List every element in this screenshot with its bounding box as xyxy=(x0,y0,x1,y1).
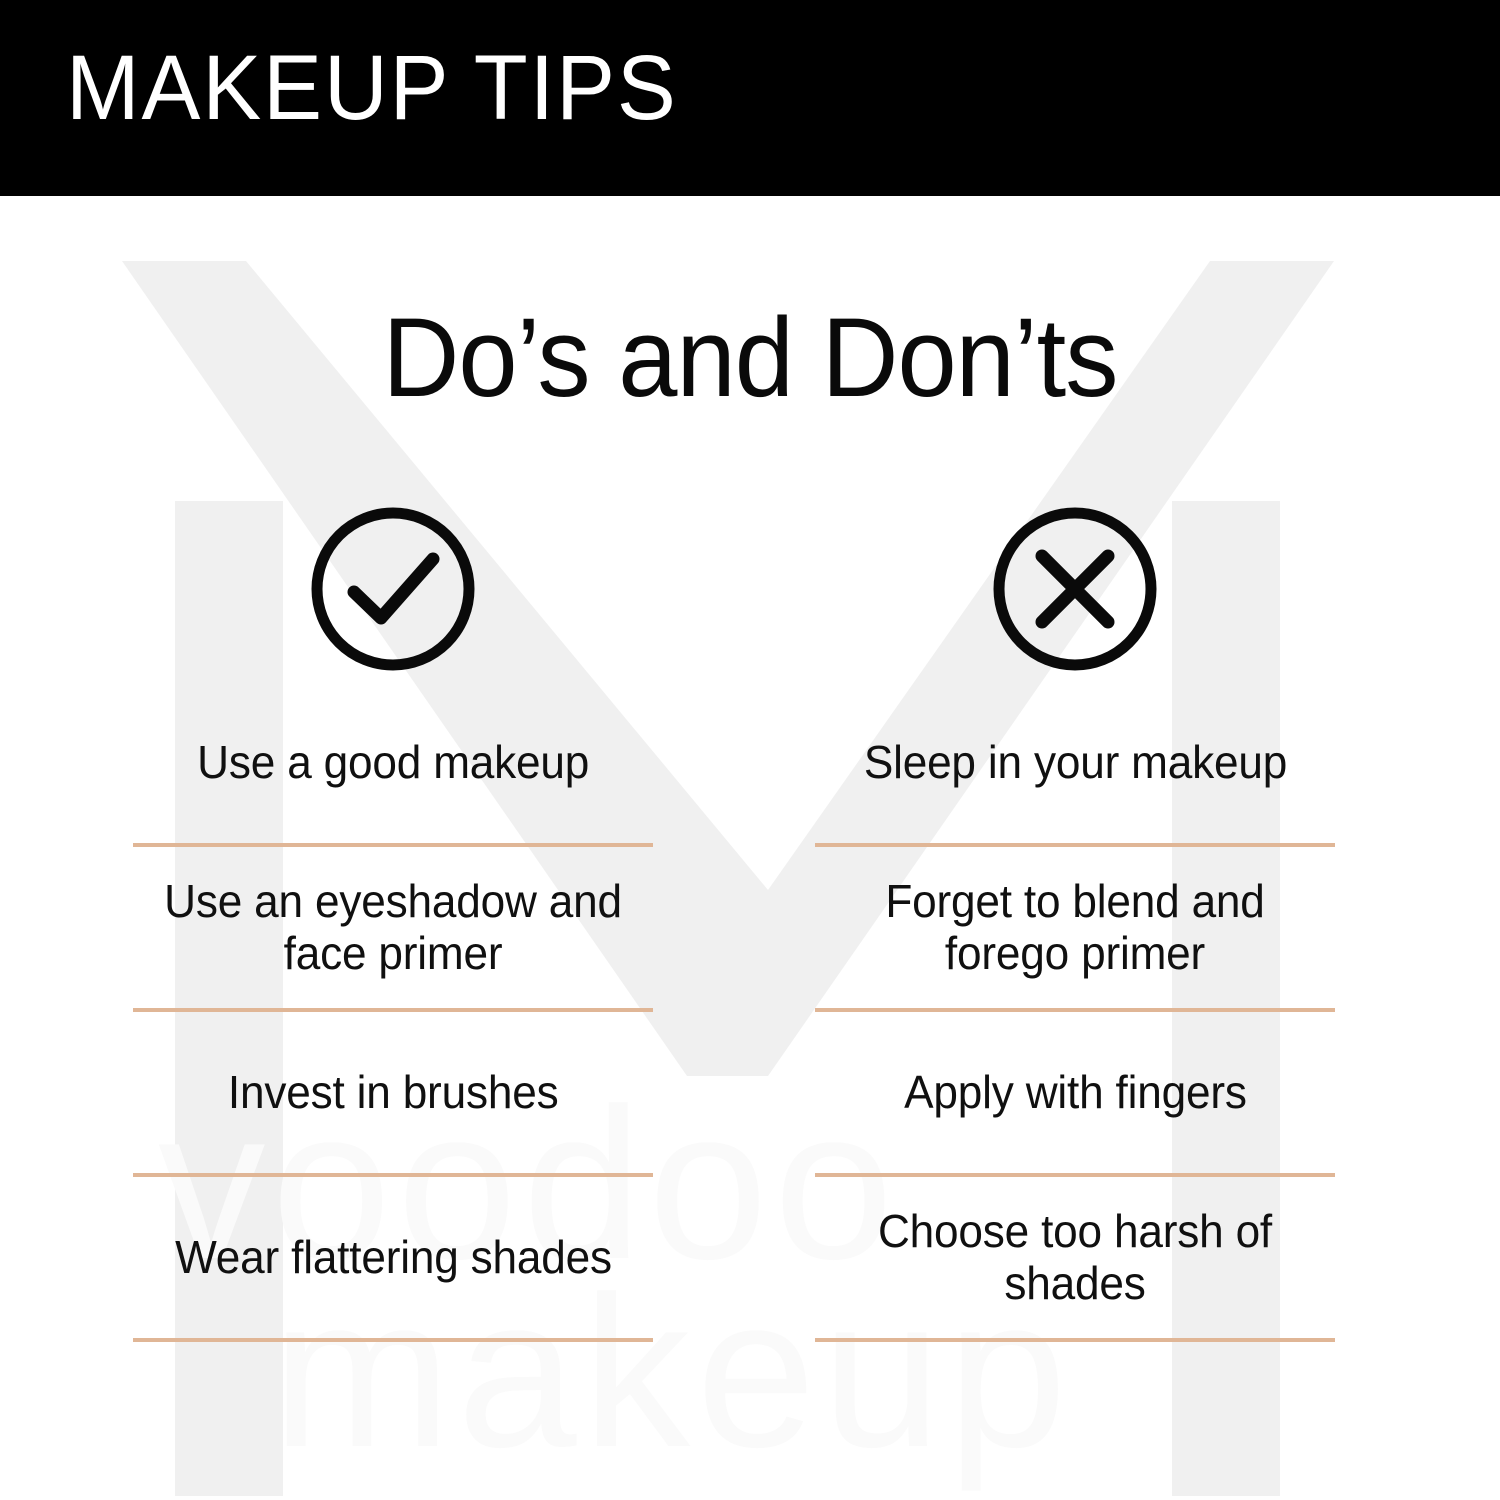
check-circle-icon xyxy=(307,503,479,675)
list-item-label: Choose too harsh of shades xyxy=(825,1206,1324,1309)
list-item: Choose too harsh of shades xyxy=(815,1177,1335,1342)
list-item-label: Forget to blend and forego primer xyxy=(825,876,1324,979)
list-item-label: Apply with fingers xyxy=(898,1067,1252,1119)
donts-rows: Sleep in your makeup Forget to blend and… xyxy=(815,682,1335,1342)
x-circle-icon xyxy=(989,503,1161,675)
list-item-label: Use an eyeshadow and face primer xyxy=(143,876,642,979)
donts-icon-wrapper xyxy=(815,496,1335,682)
list-item: Forget to blend and forego primer xyxy=(815,847,1335,1012)
list-item-label: Sleep in your makeup xyxy=(858,737,1293,789)
list-item-label: Invest in brushes xyxy=(222,1067,564,1119)
list-item-label: Wear flattering shades xyxy=(169,1232,617,1284)
list-item: Sleep in your makeup xyxy=(815,682,1335,847)
list-item-label: Use a good makeup xyxy=(191,737,595,789)
list-item: Wear flattering shades xyxy=(133,1177,653,1342)
list-item: Use a good makeup xyxy=(133,682,653,847)
column-donts: Sleep in your makeup Forget to blend and… xyxy=(815,496,1335,1342)
list-item: Invest in brushes xyxy=(133,1012,653,1177)
makeup-tips-infographic: MAKEUP TIPS voodoo makeup Do’s and Don’t… xyxy=(0,0,1500,1500)
list-item: Use an eyeshadow and face primer xyxy=(133,847,653,1012)
dos-rows: Use a good makeup Use an eyeshadow and f… xyxy=(133,682,653,1342)
section-title: Do’s and Don’ts xyxy=(38,296,1463,419)
column-dos: Use a good makeup Use an eyeshadow and f… xyxy=(133,496,653,1342)
list-item: Apply with fingers xyxy=(815,1012,1335,1177)
page-title: MAKEUP TIPS xyxy=(66,42,678,134)
dos-icon-wrapper xyxy=(133,496,653,682)
content-area: Do’s and Don’ts Use a good makeup Use an… xyxy=(0,196,1500,1500)
header-bar: MAKEUP TIPS xyxy=(0,0,1500,196)
